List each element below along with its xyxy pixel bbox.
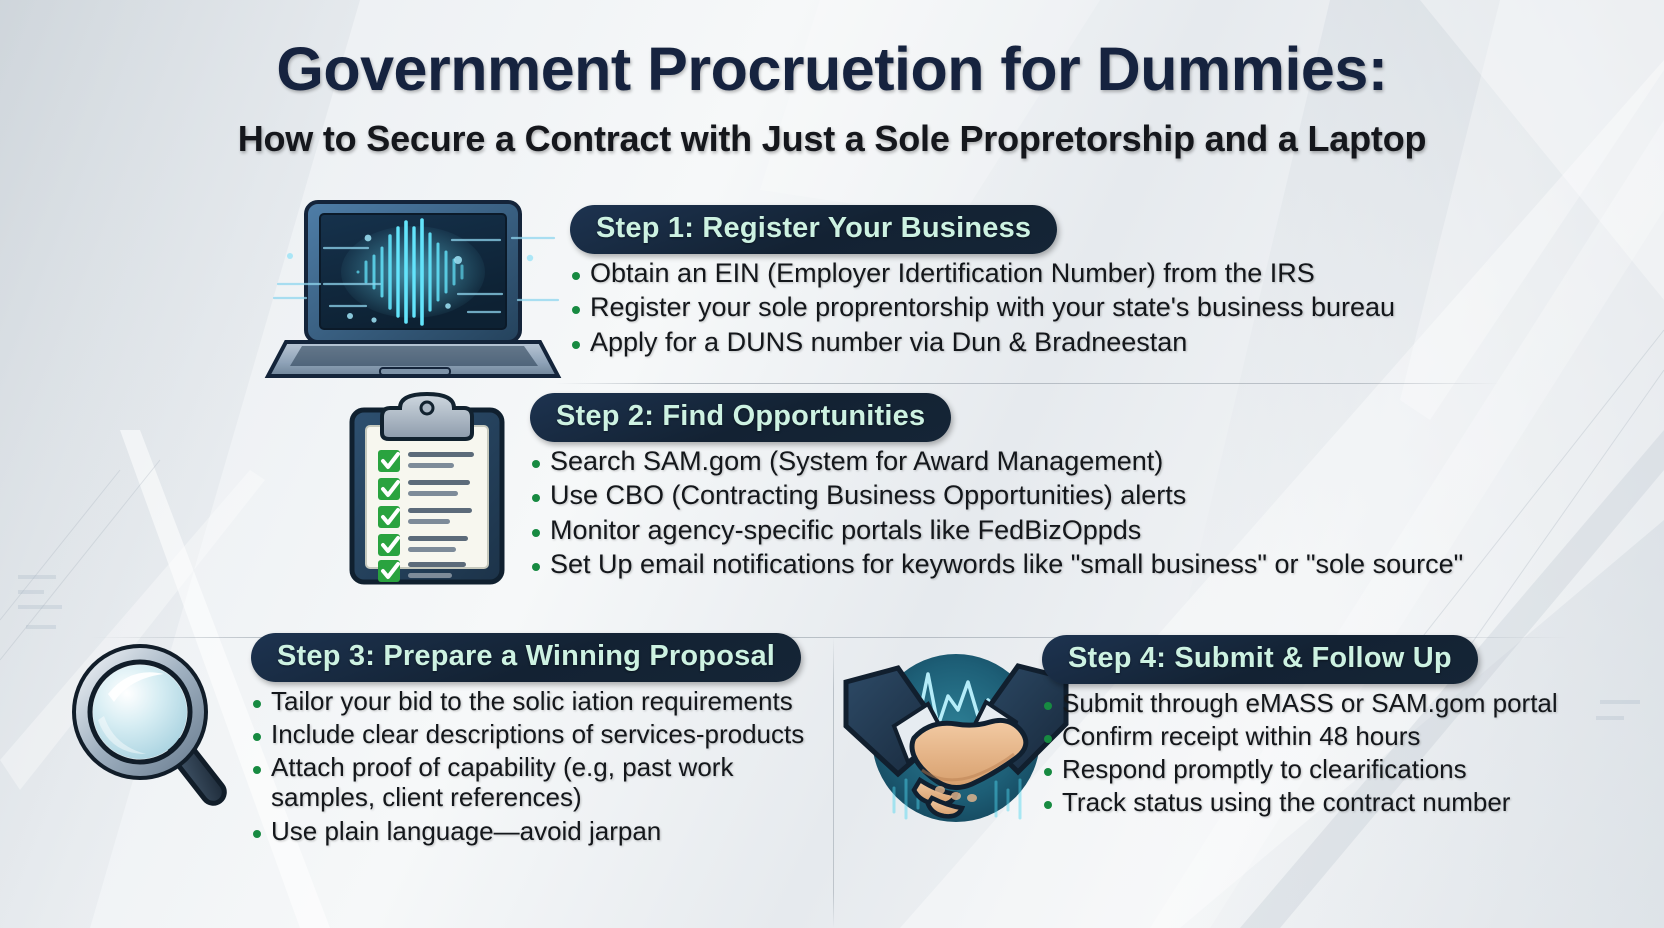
magnifying-glass-icon xyxy=(58,632,254,828)
step-1-badge: Step 1: Register Your Business xyxy=(570,205,1057,254)
step-2-badge: Step 2: Find Opportunities xyxy=(530,393,951,442)
step-4-badge: Step 4: Submit & Follow Up xyxy=(1042,635,1478,684)
divider-step3-step4 xyxy=(833,637,834,928)
step-block-2: Step 2: Find Opportunities Search SAM.go… xyxy=(530,393,1463,580)
list-item: Confirm receipt within 48 hours xyxy=(1042,721,1558,751)
list-item: Respond promptly to clearifications xyxy=(1042,754,1558,784)
step-4-bullet-list: Submit through eMASS or SAM.gom portal C… xyxy=(1042,688,1558,818)
step-block-1: Step 1: Register Your Business Obtain an… xyxy=(570,205,1395,358)
step-block-3: Step 3: Prepare a Winning Proposal Tailo… xyxy=(251,633,801,846)
list-item: Register your sole proprentorship with y… xyxy=(570,292,1395,323)
list-item: Use CBO (Contracting Business Opportunit… xyxy=(530,480,1463,511)
list-item: Use plain language—avoid jarpan xyxy=(251,816,771,846)
page-title: Government Procruetion for Dummies: xyxy=(0,34,1664,104)
list-item: Apply for a DUNS number via Dun & Bradne… xyxy=(570,327,1395,358)
list-item: Track status using the contract number xyxy=(1042,787,1558,817)
list-item: Obtain an EIN (Employer Idertification N… xyxy=(570,258,1395,289)
step-block-4: Step 4: Submit & Follow Up Submit throug… xyxy=(1042,635,1558,818)
list-item: Monitor agency-specific portals like Fed… xyxy=(530,515,1463,546)
step-1-bullet-list: Obtain an EIN (Employer Idertification N… xyxy=(570,258,1395,358)
list-item: Submit through eMASS or SAM.gom portal xyxy=(1042,688,1558,718)
list-item: Include clear descriptions of services-p… xyxy=(251,719,771,749)
list-item: Set Up email notifications for keywords … xyxy=(530,549,1463,580)
infographic-poster: Government Procruetion for Dummies: How … xyxy=(0,0,1664,928)
list-item: Tailor your bid to the solic iation requ… xyxy=(251,686,771,716)
list-item: Attach proof of capability (e.g, past wo… xyxy=(251,752,771,812)
step-2-bullet-list: Search SAM.gom (System for Award Managem… xyxy=(530,446,1463,580)
step-3-bullet-list: Tailor your bid to the solic iation requ… xyxy=(251,686,771,846)
handshake-icon xyxy=(836,630,1076,840)
clipboard-checklist-icon xyxy=(338,392,516,592)
list-item: Search SAM.gom (System for Award Managem… xyxy=(530,446,1463,477)
step-3-badge: Step 3: Prepare a Winning Proposal xyxy=(251,633,801,682)
laptop-waveform-icon xyxy=(262,188,562,388)
divider-step1-step2 xyxy=(555,383,1500,384)
page-subtitle: How to Secure a Contract with Just a Sol… xyxy=(0,118,1664,160)
